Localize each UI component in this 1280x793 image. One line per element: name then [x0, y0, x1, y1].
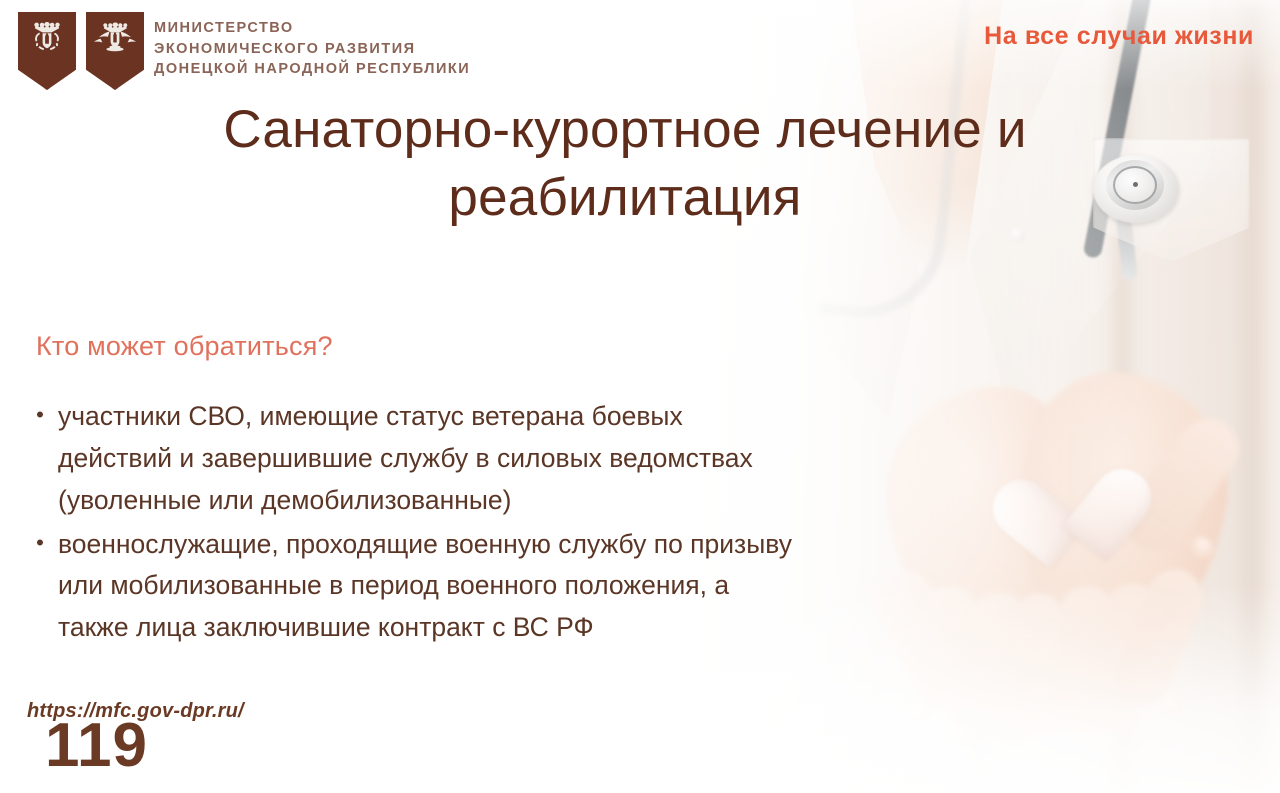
page-title: Санаторно-курортное лечение и реабилитац…	[120, 96, 1130, 232]
tagline: На все случаи жизни	[984, 22, 1254, 51]
slide-canvas: МИНИСТЕРСТВО ЭКОНОМИЧЕСКОГО РАЗВИТИЯ ДОН…	[0, 0, 1280, 793]
eligibility-list: • участники СВО, имеющие статус ветерана…	[22, 396, 1052, 651]
eligibility-question: Кто может обратиться?	[36, 331, 333, 362]
ministry-line-3: ДОНЕЦКОЙ НАРОДНОЙ РЕСПУБЛИКИ	[154, 59, 470, 80]
ministry-name: МИНИСТЕРСТВО ЭКОНОМИЧЕСКОГО РАЗВИТИЯ ДОН…	[154, 18, 470, 80]
ministry-logo-lockup: МИНИСТЕРСТВО ЭКОНОМИЧЕСКОГО РАЗВИТИЯ ДОН…	[18, 12, 470, 90]
list-item-line: действий и завершившие службу в силовых …	[58, 438, 1052, 480]
list-item-line: (уволенные или демобилизованные)	[58, 480, 1052, 522]
list-item-line: или мобилизованные в период военного пол…	[58, 565, 1052, 607]
ministry-line-2: ЭКОНОМИЧЕСКОГО РАЗВИТИЯ	[154, 39, 470, 60]
page-title-line-2: реабилитация	[120, 164, 1130, 232]
ministry-line-1: МИНИСТЕРСТВО	[154, 18, 470, 39]
hotline-phone-number: 119	[45, 715, 148, 777]
list-item-line: участники СВО, имеющие статус ветерана б…	[58, 396, 1052, 438]
list-item: • участники СВО, имеющие статус ветерана…	[22, 396, 1052, 522]
list-item-line: также лица заключившие контракт с ВС РФ	[58, 607, 1052, 649]
donetsk-peoples-republic-coat-of-arms-icon	[86, 12, 144, 90]
list-item-text: участники СВО, имеющие статус ветерана б…	[58, 396, 1052, 522]
list-item-text: военнослужащие, проходящие военную служб…	[58, 524, 1052, 650]
bullet-icon: •	[22, 396, 58, 434]
russian-federation-coat-of-arms-icon	[18, 12, 76, 90]
bullet-icon: •	[22, 524, 58, 562]
list-item: • военнослужащие, проходящие военную слу…	[22, 524, 1052, 650]
page-title-line-1: Санаторно-курортное лечение и	[120, 96, 1130, 164]
list-item-line: военнослужащие, проходящие военную служб…	[58, 524, 1052, 566]
